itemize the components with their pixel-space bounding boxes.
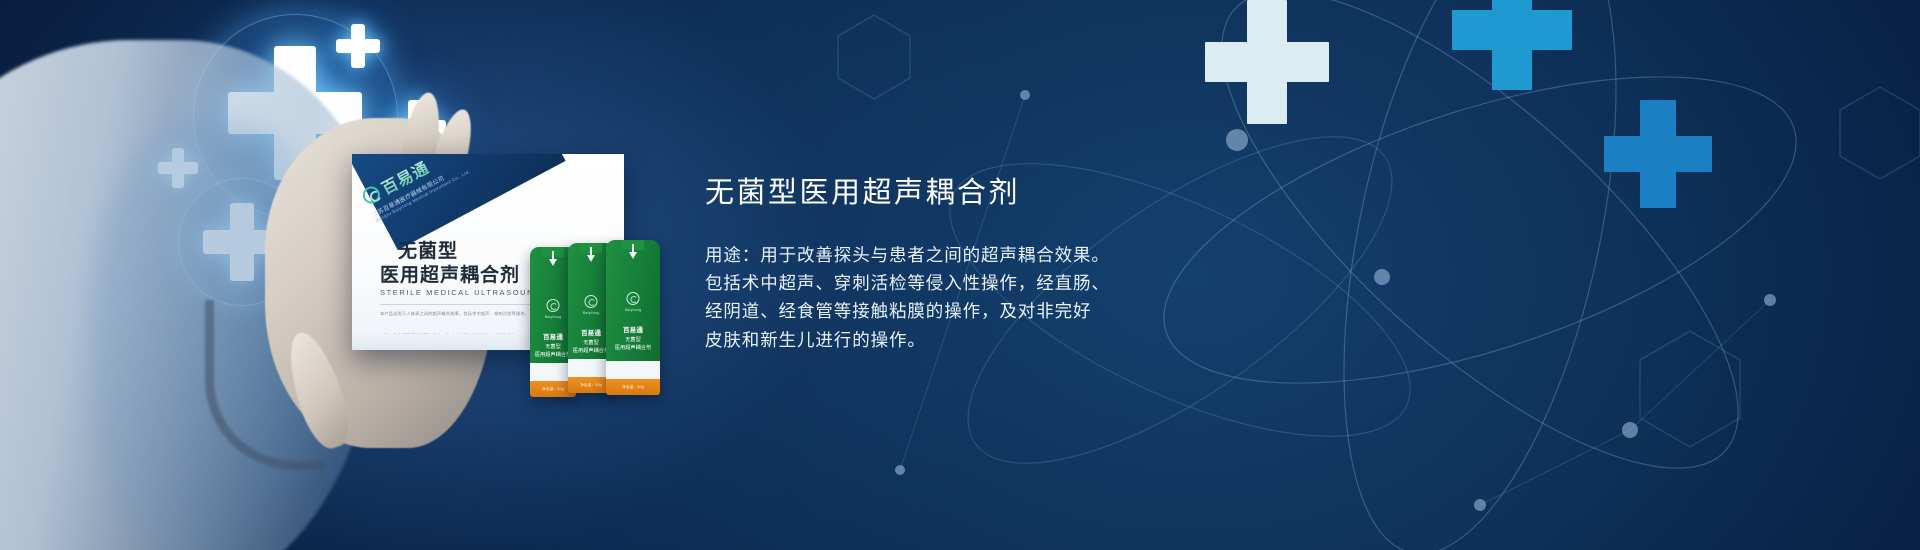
brand-logo-icon (360, 183, 383, 206)
sachet-brand-mark: 百易通 (606, 324, 660, 334)
medical-cross-icon-blue (1604, 100, 1712, 208)
sachet-line1: 无菌型 (606, 336, 660, 343)
banner-description: 用途：用于改善探头与患者之间的超声耦合效果。 包括术中超声、穿刺活检等侵入性操作… (705, 241, 1265, 354)
box-title-line2: 医用超声耦合剂 (380, 260, 520, 287)
medical-cross-icon-teal (1452, 0, 1572, 90)
description-line-4: 皮肤和新生儿进行的操作。 (705, 326, 1265, 354)
box-title-line1: 无菌型 (398, 236, 458, 263)
sachet-brand-en: Baiyitong (606, 308, 660, 312)
description-line-3: 经阴道、经食管等接触粘膜的操作，及对非完好 (705, 297, 1265, 325)
product-banner: 百易通 江苏百易通医疗器械有限公司 Jiangsu Baiyitong Medi… (0, 0, 1920, 550)
description-line-1: 用途：用于改善探头与患者之间的超声耦合效果。 (705, 241, 1265, 269)
sachet-line2: 医用超声耦合剂 (606, 344, 660, 351)
tear-arrow-icon (629, 252, 637, 259)
tear-arrow-icon (549, 259, 557, 266)
medical-cross-icon-large-pale (1205, 0, 1329, 124)
banner-headline: 无菌型医用超声耦合剂 (705, 176, 1265, 211)
sachet-logo-icon (547, 299, 560, 312)
sachet-3: Baiyitong 百易通 无菌型 医用超声耦合剂 净含量：20g (606, 240, 660, 395)
description-line-2: 包括术中超声、穿刺活检等侵入性操作，经直肠、 (705, 269, 1265, 297)
marketing-copy: 无菌型医用超声耦合剂 用途：用于改善探头与患者之间的超声耦合效果。 包括术中超声… (705, 176, 1265, 354)
sachet-white-band (606, 361, 660, 379)
tear-arrow-icon (587, 255, 595, 262)
sachet-net-weight: 净含量：20g (606, 385, 660, 390)
sachet-logo-icon (627, 292, 640, 305)
sachet-logo-icon (585, 295, 598, 308)
